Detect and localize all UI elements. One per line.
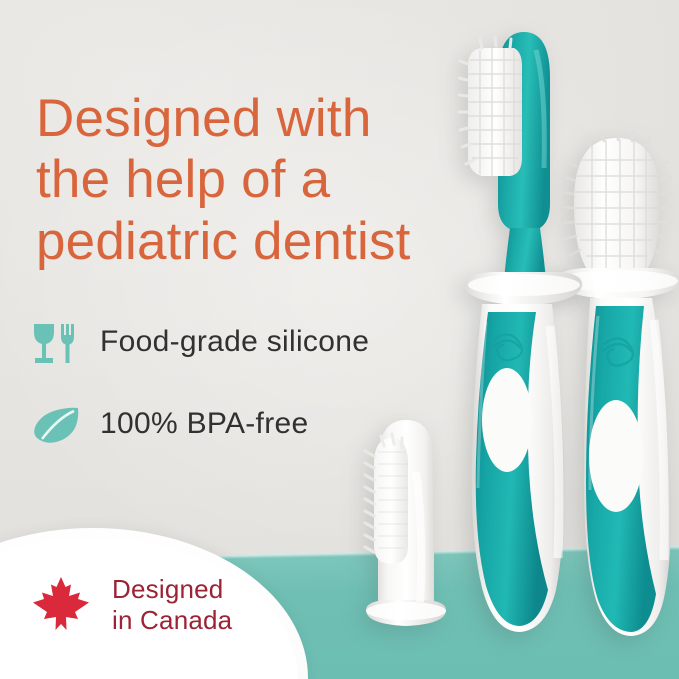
finger-brush-bristle-pad (374, 438, 408, 564)
brush-a-shield-top (468, 274, 580, 296)
brush-a-thumb-grip (482, 368, 532, 472)
feature-bpa-free: 100% BPA-free (30, 398, 308, 450)
product-image-scene: Designed with the help of a pediatric de… (0, 0, 679, 679)
headline-line-3: pediatric dentist (36, 211, 506, 272)
badge-text: Designed in Canada (112, 574, 232, 635)
feature-food-grade-silicone: Food-grade silicone (30, 316, 369, 368)
leaf-icon (30, 398, 82, 450)
feature-label: Food-grade silicone (100, 325, 369, 359)
headline-line-1: Designed with (36, 88, 506, 149)
brush-b-bristle-rows (575, 139, 659, 276)
badge-line-1: Designed (112, 574, 232, 605)
badge-line-2: in Canada (112, 605, 232, 636)
finger-brush-base-top (366, 602, 446, 620)
goblet-and-fork-icon (30, 316, 82, 368)
feature-label: 100% BPA-free (100, 407, 308, 441)
headline: Designed with the help of a pediatric de… (36, 88, 506, 272)
designed-in-canada-content: Designed in Canada (30, 574, 232, 636)
maple-leaf-icon (30, 574, 92, 636)
headline-line-2: the help of a (36, 149, 506, 210)
brush-b-thumb-grip (589, 400, 643, 512)
